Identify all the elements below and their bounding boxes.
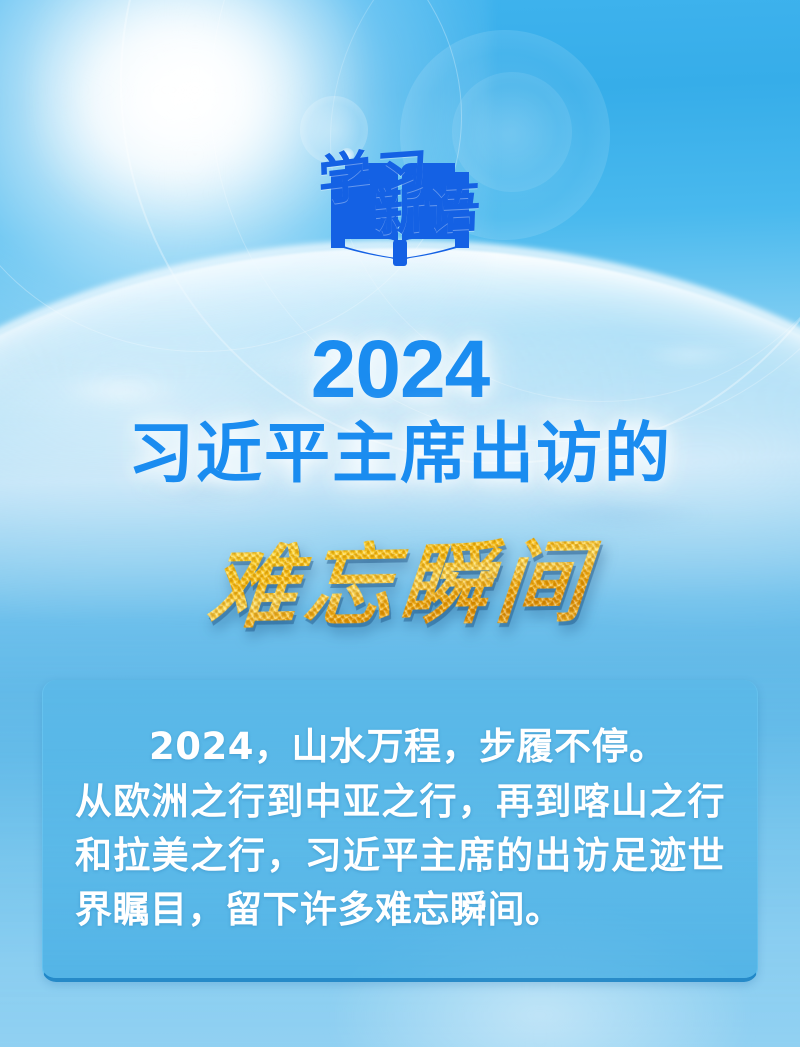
logo-char-1: 学 [317, 148, 372, 209]
headline-block: 2024 习近平主席出访的 [0, 330, 800, 488]
headline-title: 习近平主席出访的 [0, 420, 800, 487]
xuexi-xinyu-logo[interactable]: 学 习 新 语 [315, 120, 485, 270]
calligraphy-text: 难忘瞬间 [198, 537, 603, 634]
logo-container: 学 习 新 语 [0, 120, 800, 270]
summary-line-2: 从欧洲之行到中亚之行，再到喀山之 [75, 780, 688, 823]
summary-text: 2024，山水万程，步履不停。从欧洲之行到中亚之行，再到喀山之行和拉美之行，习近… [75, 720, 725, 938]
logo-characters: 学 习 新 语 [315, 120, 485, 270]
headline-year: 2024 [0, 330, 800, 410]
summary-panel: 2024，山水万程，步履不停。从欧洲之行到中亚之行，再到喀山之行和拉美之行，习近… [42, 680, 758, 982]
poster-root: 学 习 新 语 2024 习近平主席出访的 难忘瞬间 2024，山水万程，步履不… [0, 0, 800, 1047]
logo-char-3: 新 [374, 183, 427, 241]
calligraphy-block: 难忘瞬间 [0, 540, 800, 660]
logo-char-4: 语 [427, 183, 481, 238]
summary-line-1: 2024，山水万程，步履不停。 [75, 720, 725, 774]
